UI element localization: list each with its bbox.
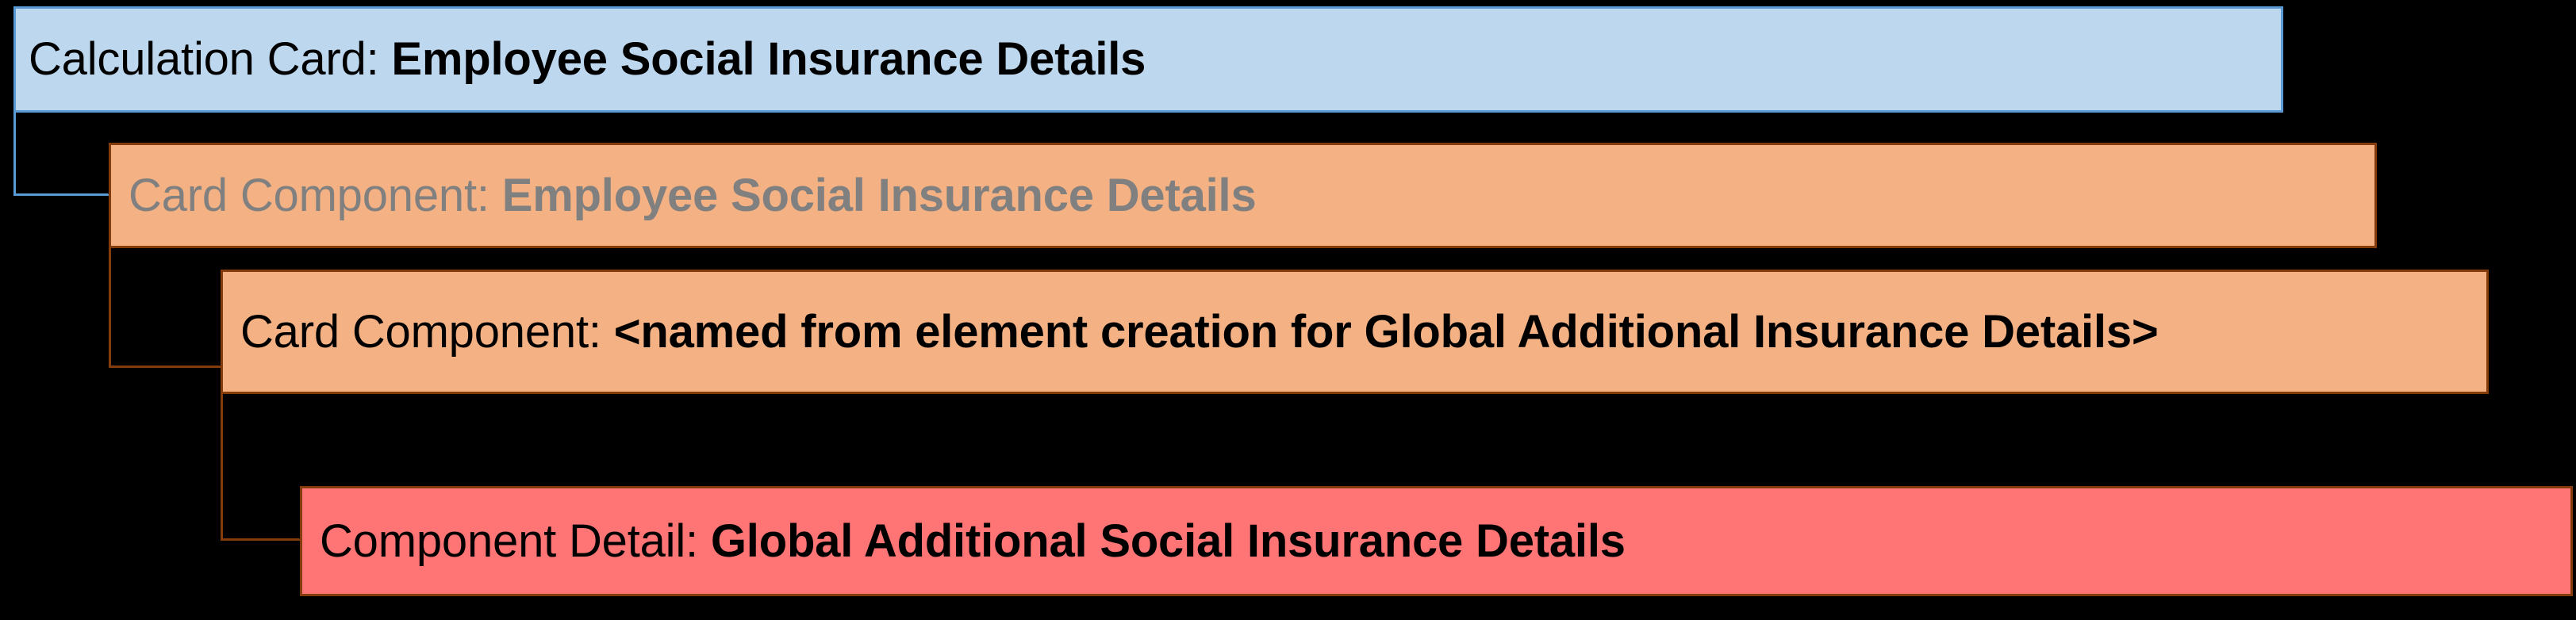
node-calculation-card[interactable]: Calculation Card: Employee Social Insura… [13, 6, 2283, 113]
node-calculation-card-prefix: Calculation Card: [29, 33, 391, 85]
node-component-detail-prefix: Component Detail: [320, 515, 711, 567]
node-card-component-employee[interactable]: Card Component: Employee Social Insuranc… [109, 143, 2377, 248]
node-component-detail[interactable]: Component Detail: Global Additional Soci… [300, 486, 2573, 596]
node-card-component-employee-prefix: Card Component: [129, 170, 502, 221]
node-card-component-named-from-element[interactable]: Card Component: <named from element crea… [221, 270, 2489, 394]
node-card-component-employee-label: Card Component: Employee Social Insuranc… [129, 168, 2374, 224]
connector-card-component-to-nested-card-component [109, 246, 222, 368]
node-card-component-employee-value: Employee Social Insurance Details [502, 170, 1257, 221]
node-card-component-named-from-element-label: Card Component: <named from element crea… [240, 304, 2470, 360]
node-component-detail-label: Component Detail: Global Additional Soci… [320, 514, 2570, 569]
connector-calculation-card-to-card-component [13, 110, 110, 196]
connector-nested-card-component-to-component-detail [221, 392, 301, 541]
diagram-canvas: Calculation Card: Employee Social Insura… [0, 0, 2576, 620]
node-component-detail-value: Global Additional Social Insurance Detai… [711, 515, 1626, 567]
node-card-component-named-from-element-value: <named from element creation for Global … [614, 306, 2159, 358]
node-calculation-card-value: Employee Social Insurance Details [391, 33, 1146, 85]
node-card-component-named-from-element-prefix: Card Component: [240, 306, 614, 358]
node-calculation-card-label: Calculation Card: Employee Social Insura… [29, 32, 2281, 87]
